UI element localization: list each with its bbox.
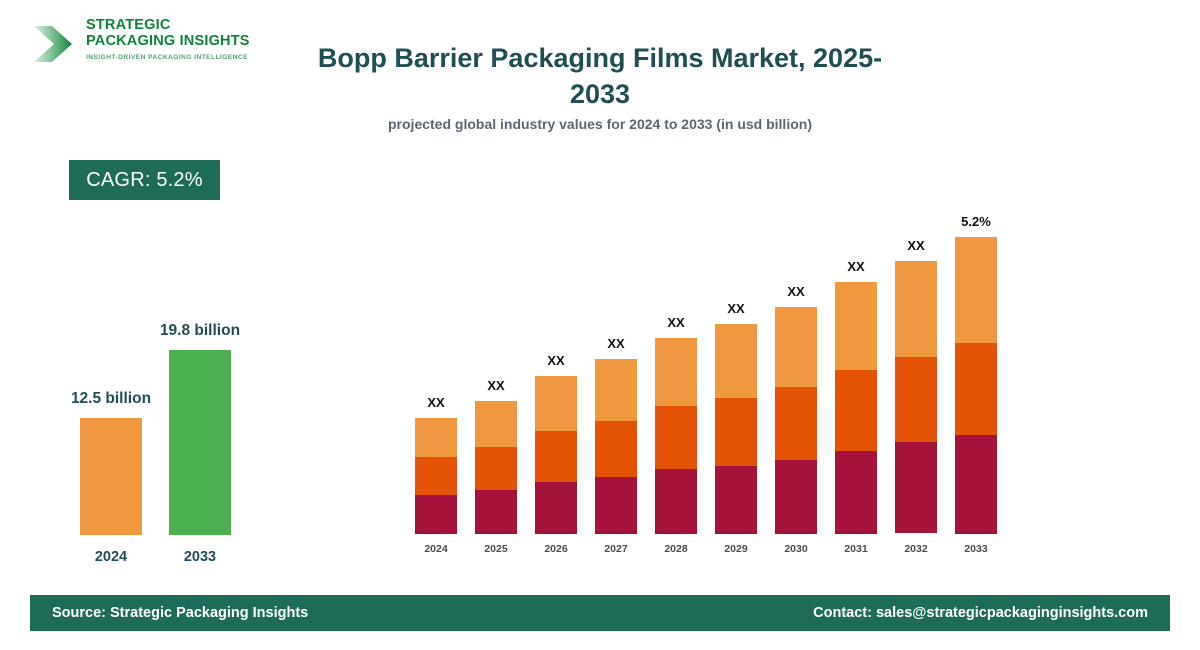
stacked-segment-bottom xyxy=(715,466,757,534)
stacked-bar xyxy=(595,359,637,534)
stacked-segment-middle xyxy=(655,406,697,469)
stacked-segment-middle xyxy=(715,398,757,467)
stacked-segment-bottom xyxy=(655,469,697,534)
stacked-segment-middle xyxy=(415,457,457,495)
stacked-segment-top xyxy=(715,324,757,398)
stacked-segment-middle xyxy=(955,343,997,436)
footer-source: Source: Strategic Packaging Insights xyxy=(52,605,308,621)
stacked-segment-middle xyxy=(775,387,817,461)
stacked-bar xyxy=(655,338,697,534)
logo-line-1: STRATEGIC xyxy=(86,18,282,34)
stacked-year-label: 2032 xyxy=(895,543,937,555)
stacked-segment-middle xyxy=(475,447,517,490)
comparison-value-label: 12.5 billion xyxy=(31,390,191,408)
stacked-year-label: 2025 xyxy=(475,543,517,555)
stacked-segment-top xyxy=(775,307,817,387)
footer-contact: Contact: sales@strategicpackaginginsight… xyxy=(813,605,1148,621)
stacked-segment-middle xyxy=(895,357,937,442)
stacked-segment-top xyxy=(595,359,637,421)
footer-bar: Source: Strategic Packaging Insights Con… xyxy=(30,595,1170,631)
stacked-year-label: 2026 xyxy=(535,543,577,555)
brand-logo-text: STRATEGIC PACKAGING INSIGHTS INSIGHT-DRI… xyxy=(86,18,282,61)
stacked-bar xyxy=(775,307,817,534)
stacked-year-label: 2033 xyxy=(955,543,997,555)
stacked-segment-middle xyxy=(535,431,577,482)
stacked-bar-value-label: XX xyxy=(881,238,951,253)
stacked-segment-middle xyxy=(595,421,637,477)
stacked-bar xyxy=(715,324,757,534)
stacked-bar xyxy=(895,261,937,534)
page-title: Bopp Barrier Packaging Films Market, 202… xyxy=(300,40,900,112)
infographic-page: STRATEGIC PACKAGING INSIGHTS INSIGHT-DRI… xyxy=(0,0,1200,650)
forecast-stacked-bar-chart: 2024XX2025XX2026XX2027XX2028XX2029XX2030… xyxy=(400,200,1000,555)
stacked-bar-value-label: XX xyxy=(761,284,831,299)
stacked-segment-bottom xyxy=(775,460,817,534)
stacked-bar-value-label: XX xyxy=(641,315,711,330)
comparison-bar xyxy=(169,350,231,535)
stacked-segment-bottom xyxy=(535,482,577,534)
stacked-segment-top xyxy=(835,282,877,370)
stacked-bar xyxy=(475,401,517,534)
comparison-year-label: 2033 xyxy=(169,549,231,565)
stacked-bar-value-label: XX xyxy=(461,378,531,393)
stacked-bar xyxy=(535,376,577,534)
stacked-segment-top xyxy=(895,261,937,357)
logo-tagline: INSIGHT-DRIVEN PACKAGING INTELLIGENCE xyxy=(86,54,282,61)
stacked-year-label: 2024 xyxy=(415,543,457,555)
stacked-bar-value-label: XX xyxy=(821,259,891,274)
comparison-value-label: 19.8 billion xyxy=(120,322,280,340)
page-subtitle: projected global industry values for 202… xyxy=(260,116,940,132)
stacked-bar-value-label: XX xyxy=(701,301,771,316)
stacked-segment-top xyxy=(475,401,517,447)
cagr-badge: CAGR: 5.2% xyxy=(69,160,220,200)
stacked-year-label: 2029 xyxy=(715,543,757,555)
stacked-segment-top xyxy=(655,338,697,406)
comparison-year-label: 2024 xyxy=(80,549,142,565)
logo-line-2: PACKAGING INSIGHTS xyxy=(86,34,282,50)
stacked-bar-value-label: XX xyxy=(521,353,591,368)
comparison-bar-chart: 202412.5 billion203319.8 billion xyxy=(50,320,270,565)
stacked-segment-bottom xyxy=(595,477,637,534)
stacked-segment-bottom xyxy=(475,490,517,534)
comparison-bar xyxy=(80,418,142,535)
stacked-bar-value-label: XX xyxy=(581,336,651,351)
stacked-bar-value-label: XX xyxy=(401,395,471,410)
stacked-year-label: 2031 xyxy=(835,543,877,555)
stacked-bar-value-label: 5.2% xyxy=(941,214,1011,229)
stacked-segment-top xyxy=(535,376,577,431)
stacked-bar xyxy=(955,237,997,534)
brand-logo: STRATEGIC PACKAGING INSIGHTS INSIGHT-DRI… xyxy=(32,14,282,76)
stacked-segment-middle xyxy=(835,370,877,451)
stacked-segment-bottom xyxy=(955,435,997,534)
stacked-segment-bottom xyxy=(895,442,937,533)
stacked-bar xyxy=(835,282,877,534)
stacked-segment-bottom xyxy=(415,495,457,534)
stacked-bar xyxy=(415,418,457,534)
stacked-year-label: 2030 xyxy=(775,543,817,555)
stacked-year-label: 2028 xyxy=(655,543,697,555)
stacked-segment-bottom xyxy=(835,451,877,534)
stacked-segment-top xyxy=(415,418,457,457)
stacked-year-label: 2027 xyxy=(595,543,637,555)
stacked-segment-top xyxy=(955,237,997,343)
green-chevron-icon xyxy=(32,20,80,68)
